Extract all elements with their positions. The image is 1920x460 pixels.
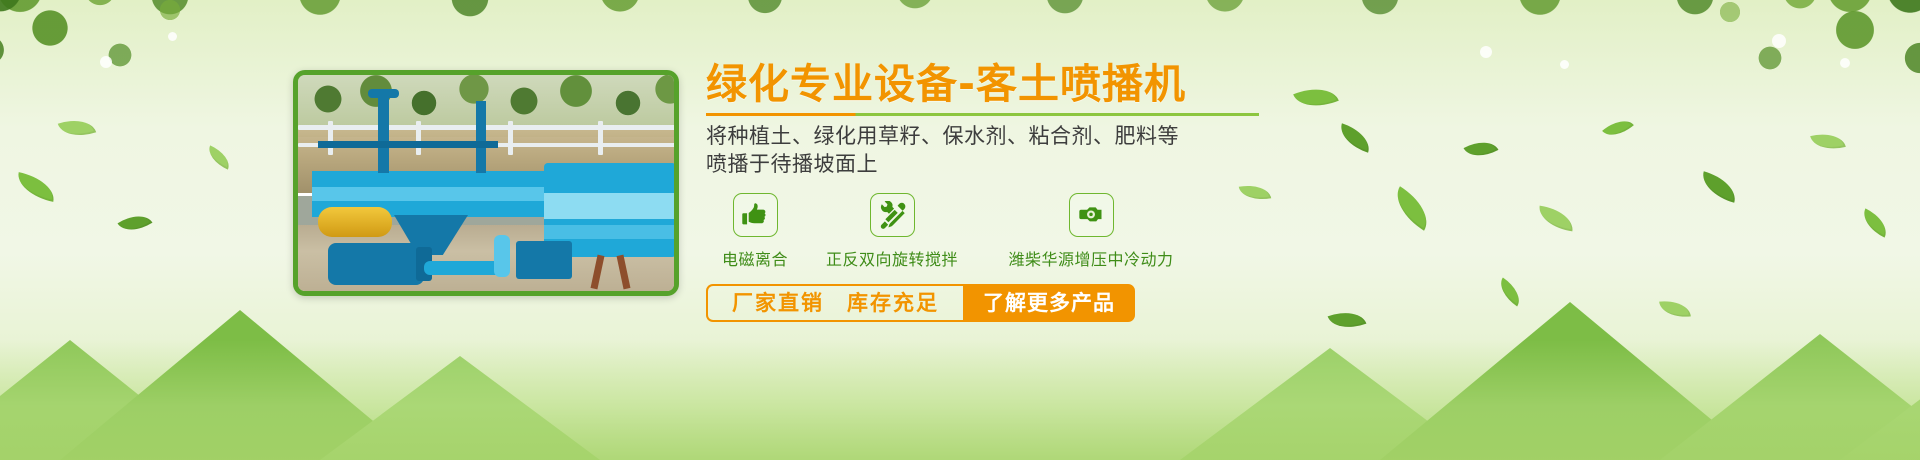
product-photo-frame[interactable] <box>293 70 679 296</box>
machine-tank-band <box>544 225 676 239</box>
machine-tank-highlight <box>544 193 676 219</box>
grass-strip <box>0 340 1920 460</box>
banner-subtitle: 将种植土、绿化用草籽、保水剂、粘合剂、肥料等 喷播于待播坡面上 <box>706 123 1466 178</box>
machine-yellow-cylinder <box>318 207 392 237</box>
feature-icon-box <box>733 193 778 237</box>
feature-list: 电磁离合 正反双向旋转搅拌 <box>706 193 1466 270</box>
machine-mast <box>378 93 389 173</box>
subtitle-line-2: 喷播于待播坡面上 <box>706 151 1466 179</box>
machine-elbow <box>494 235 510 277</box>
feature-icon-box <box>870 193 915 237</box>
feature-item-electromagnetic-clutch[interactable]: 电磁离合 <box>706 193 804 270</box>
feature-label: 正反双向旋转搅拌 <box>826 246 958 270</box>
thumbs-up-icon <box>741 201 769 229</box>
banner-title: 绿化专业设备-客土喷播机 <box>706 62 1466 106</box>
machine-hopper-highlight <box>312 187 544 201</box>
feature-item-bidirectional-mixing[interactable]: 正反双向旋转搅拌 <box>804 193 980 270</box>
banner-content: 绿化专业设备-客土喷播机 将种植土、绿化用草籽、保水剂、粘合剂、肥料等 喷播于待… <box>706 62 1466 322</box>
promo-banner: 绿化专业设备-客土喷播机 将种植土、绿化用草籽、保水剂、粘合剂、肥料等 喷播于待… <box>0 0 1920 460</box>
product-photo <box>298 75 674 291</box>
feature-label: 电磁离合 <box>722 246 788 270</box>
cta-left-label[interactable]: 厂家直销 库存充足 <box>706 284 963 322</box>
wrench-screwdriver-icon <box>878 201 906 229</box>
engine-gear-icon <box>1076 201 1106 229</box>
machine-mast-cap <box>368 89 399 98</box>
machine-pump-housing <box>328 243 424 285</box>
subtitle-line-1: 将种植土、绿化用草籽、保水剂、粘合剂、肥料等 <box>706 123 1466 151</box>
cta-button-group: 厂家直销 库存充足 了解更多产品 <box>706 284 1466 322</box>
learn-more-button[interactable]: 了解更多产品 <box>963 284 1135 322</box>
feature-item-weichai-power[interactable]: 潍柴华源增压中冷动力 <box>980 193 1202 270</box>
machine-control-box <box>516 241 572 279</box>
feature-icon-box <box>1069 193 1114 237</box>
machine-mast <box>476 101 486 173</box>
feature-label: 潍柴华源增压中冷动力 <box>1008 246 1173 270</box>
machine-crossbar <box>318 141 498 148</box>
title-divider <box>706 113 1259 116</box>
photo-railing <box>298 121 674 155</box>
